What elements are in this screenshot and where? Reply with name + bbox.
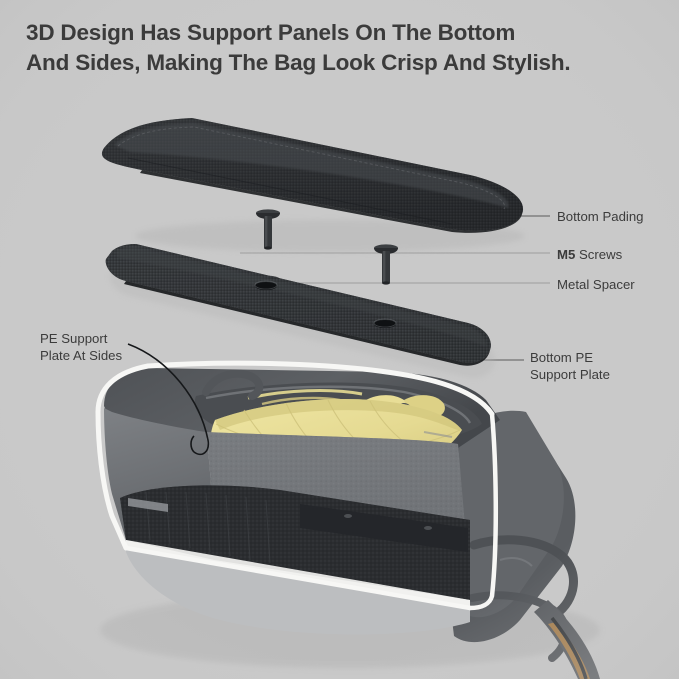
product-diagram-scene: 3D Design Has Support Panels On The Bott… <box>0 0 679 679</box>
callout-pe-support-plate-at-sides: PE Support Plate At Sides <box>40 330 122 365</box>
callout-bottom-padding-text: Bottom Pading <box>557 209 644 224</box>
page-title-line-2: And Sides, Making The Bag Look Crisp And… <box>26 48 656 78</box>
callout-bottom-padding: Bottom Pading <box>557 208 644 225</box>
callout-m5-screws-prefix: M5 <box>557 247 575 262</box>
callout-bottom-pe-line-1: Bottom PE <box>530 349 610 366</box>
callout-bottom-pe-line-2: Support Plate <box>530 366 610 383</box>
page-title: 3D Design Has Support Panels On The Bott… <box>26 18 656 77</box>
callout-metal-spacer: Metal Spacer <box>557 276 635 293</box>
callout-m5-screws-text: Screws <box>575 247 622 262</box>
callout-bottom-pe-support-plate: Bottom PE Support Plate <box>530 349 610 384</box>
callout-pe-sides-line-1: PE Support <box>40 330 122 347</box>
callout-metal-spacer-text: Metal Spacer <box>557 277 635 292</box>
callout-pe-sides-line-2: Plate At Sides <box>40 347 122 364</box>
callout-m5-screws: M5 Screws <box>557 246 622 263</box>
page-title-line-1: 3D Design Has Support Panels On The Bott… <box>26 18 656 48</box>
